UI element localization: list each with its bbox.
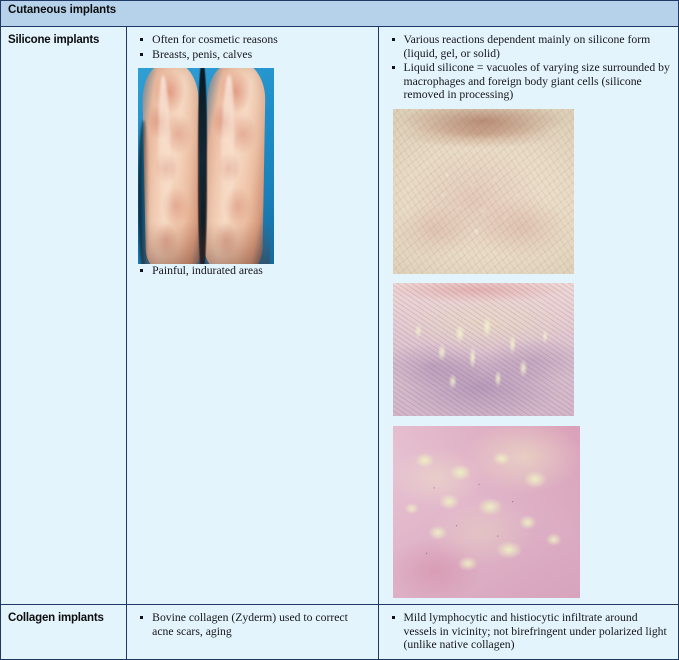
row-label-silicone-implants: Silicone implants bbox=[8, 33, 122, 47]
ankle-shading bbox=[142, 222, 270, 264]
table-row-collagen-implants: Collagen implants Bovine collagen (Zyder… bbox=[1, 604, 679, 659]
table-row-silicone-implants: Silicone implants Often for cosmetic rea… bbox=[1, 27, 679, 605]
cutaneous-implants-table: Cutaneous implants Silicone implants Oft… bbox=[0, 0, 679, 660]
list-item: Often for cosmetic reasons bbox=[132, 33, 371, 47]
row-label-cell-silicone: Silicone implants bbox=[1, 27, 127, 605]
clinical-bullet-list-silicone: Often for cosmetic reasons Breasts, peni… bbox=[132, 33, 371, 61]
clinical-cell-silicone: Often for cosmetic reasons Breasts, peni… bbox=[127, 27, 378, 605]
clinical-bullet-list-collagen: Bovine collagen (Zyderm) used to correct… bbox=[132, 611, 371, 638]
clinical-bullet-list-silicone-after: Painful, indurated areas bbox=[132, 264, 371, 278]
pathology-cell-silicone: Various reactions dependent mainly on si… bbox=[378, 27, 678, 605]
row-label-cell-collagen: Collagen implants bbox=[1, 604, 127, 659]
page-title: Cutaneous implants bbox=[8, 3, 678, 17]
histology-silicone-low-power bbox=[393, 109, 574, 274]
table-header-cell: Cutaneous implants bbox=[1, 1, 679, 27]
row-label-collagen-implants: Collagen implants bbox=[8, 611, 122, 625]
pathology-bullet-list-silicone: Various reactions dependent mainly on si… bbox=[384, 33, 672, 102]
histology-silicone-high-power bbox=[393, 426, 580, 598]
pathology-cell-collagen: Mild lymphocytic and histiocytic infiltr… bbox=[378, 604, 678, 659]
table-header-row: Cutaneous implants bbox=[1, 1, 679, 27]
list-item: Liquid silicone = vacuoles of varying si… bbox=[384, 61, 672, 102]
pathology-bullet-list-collagen: Mild lymphocytic and histiocytic infiltr… bbox=[384, 611, 672, 652]
list-item: Breasts, penis, calves bbox=[132, 48, 371, 62]
histology-silicone-medium-power bbox=[393, 283, 574, 416]
cutaneous-implants-table-container: Cutaneous implants Silicone implants Oft… bbox=[0, 0, 679, 655]
list-item: Painful, indurated areas bbox=[132, 264, 371, 278]
list-item: Various reactions dependent mainly on si… bbox=[384, 33, 672, 60]
list-item: Mild lymphocytic and histiocytic infiltr… bbox=[384, 611, 672, 652]
clinical-cell-collagen: Bovine collagen (Zyderm) used to correct… bbox=[127, 604, 378, 659]
list-item: Bovine collagen (Zyderm) used to correct… bbox=[132, 611, 371, 638]
clinical-photo-silicone-legs bbox=[138, 68, 274, 264]
